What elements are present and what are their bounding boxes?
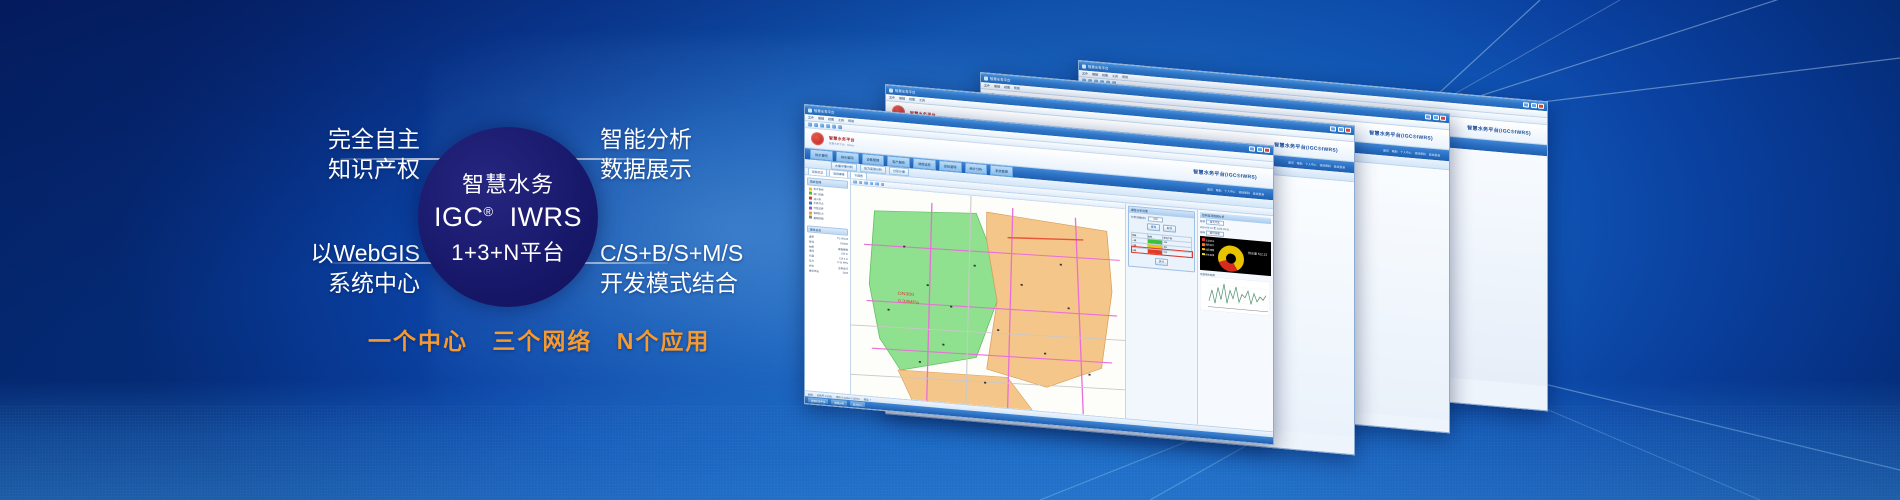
window-1-controls[interactable] xyxy=(1249,146,1270,153)
zoom-in-icon[interactable] xyxy=(859,181,863,185)
nav-right-4[interactable]: 退出登录 xyxy=(1253,191,1264,196)
banner-stage: 完全自主 知识产权 智能分析 数据展示 以WebGIS 系统中心 C/S+B/S… xyxy=(0,0,1900,500)
hub-product: IWRS xyxy=(510,202,583,232)
nav-right-0[interactable]: 首页 xyxy=(1288,160,1294,164)
nav-right-4[interactable]: 退出登录 xyxy=(1334,164,1345,169)
prop-val-7: 2015 xyxy=(842,271,848,274)
tagline-part-2: 三个网络 xyxy=(492,328,592,354)
hub-line-2: IGC® IWRS xyxy=(434,202,582,233)
tagline-part-3: N个应用 xyxy=(617,328,711,354)
window-1-title: 智慧水务平台 xyxy=(814,108,834,115)
feature-top-left: 完全自主 知识产权 xyxy=(300,124,420,184)
taskbar-item-2[interactable]: 监测中心 xyxy=(850,401,866,408)
hub-circle: 智慧水务 IGC® IWRS 1+3+N平台 xyxy=(418,127,598,307)
nav-right-1[interactable]: 帮助 xyxy=(1216,188,1222,192)
forward-icon[interactable] xyxy=(814,123,818,127)
status-layers: 图层: 7 xyxy=(864,397,871,402)
analysis-pane[interactable]: 爆管分析设置 分析范围(米) 500 查询 取消 xyxy=(1125,203,1197,424)
nav-right-2[interactable]: 个人中心 xyxy=(1400,149,1411,154)
prop-val-1: DN300 xyxy=(840,242,848,246)
burst-analysis-dialog[interactable]: 爆管分析设置 分析范围(米) 500 查询 取消 xyxy=(1128,206,1195,273)
swatch-red xyxy=(1147,248,1163,254)
nav-item-6[interactable]: 统计分析 xyxy=(965,163,988,175)
nav-item-5[interactable]: 巡检管理 xyxy=(939,160,962,172)
screenshot-stack: 就绪 流量趋势 🔍 瞬时流量 2024年3月 逐日数据 xyxy=(790,0,1410,420)
prop-key-2: 材质 xyxy=(809,244,814,248)
window-3-controls[interactable] xyxy=(1425,114,1446,121)
feature-top-right: 智能分析 数据展示 xyxy=(600,124,692,184)
refresh-icon[interactable] xyxy=(820,123,824,127)
prop-key-1: 管径 xyxy=(809,239,814,243)
nav-right-1[interactable]: 帮助 xyxy=(1392,149,1398,153)
menu-item-file[interactable]: 文件 xyxy=(984,83,990,88)
menu-item-file[interactable]: 文件 xyxy=(1082,71,1088,76)
window-3-title: 智慧水务平台 xyxy=(990,76,1010,83)
back-icon[interactable] xyxy=(808,122,812,126)
tagline-part-1: 一个中心 xyxy=(368,328,468,354)
menu-item-help[interactable]: 帮助 xyxy=(1122,75,1128,80)
prop-val-5: 0.32 MPa xyxy=(837,261,848,265)
app-window-1[interactable]: 智慧水务平台 文件 编辑 视图 工具 帮助 智慧水务平台 智慧水务平台 · iW… xyxy=(804,104,1274,445)
layer-tree-pane[interactable]: 图层管理 供水管线 阀门设施 消火栓 水表节点 分区边界 管网压力 基础底图 属… xyxy=(805,175,851,394)
feature-top-left-line2: 知识产权 xyxy=(300,154,420,184)
severity-table: 等级 色标 影响户数 一级 126 二级 xyxy=(1131,231,1192,257)
search-icon[interactable] xyxy=(832,124,836,128)
feature-bottom-left-line1: 以WebGIS xyxy=(290,238,420,268)
prop-key-5: 压力 xyxy=(809,258,814,262)
print-icon[interactable] xyxy=(838,125,842,129)
menu-item-view[interactable]: 视图 xyxy=(1004,85,1010,90)
feature-top-left-line1: 完全自主 xyxy=(300,124,420,154)
company-logo-icon xyxy=(811,132,824,146)
map-pane[interactable]: DN300 0.32MPa xyxy=(851,179,1125,418)
menu-item-view[interactable]: 视图 xyxy=(1102,73,1108,78)
prop-val-0: PL-00218 xyxy=(837,237,848,241)
app-title-2: 智慧水务平台(IGC®IWRS) xyxy=(1274,141,1338,154)
hero-content: 完全自主 知识产权 智能分析 数据展示 以WebGIS 系统中心 C/S+B/S… xyxy=(0,0,820,500)
prop-key-7: 建设年份 xyxy=(809,268,819,273)
window-icon xyxy=(889,88,893,92)
measure-icon[interactable] xyxy=(875,182,879,186)
window-icon xyxy=(984,76,988,80)
prop-val-2: 球墨铸铁 xyxy=(838,247,848,252)
feature-top-right-line2: 数据展示 xyxy=(600,154,692,184)
window-2-controls[interactable] xyxy=(1330,126,1351,133)
prop-val-3: 1.80 m xyxy=(840,252,848,256)
nav-right-2[interactable]: 个人中心 xyxy=(1305,161,1316,166)
select-icon[interactable] xyxy=(870,182,874,186)
dialog-field-label: 分析范围(米) xyxy=(1131,215,1146,219)
prop-key-3: 埋深 xyxy=(809,249,814,253)
td-level-2: 三级 xyxy=(1132,247,1148,253)
app-title-1: 智慧水务平台(IGC®IWRS) xyxy=(1193,168,1257,181)
query-button[interactable]: 查询 xyxy=(1147,223,1160,232)
menu-item-view[interactable]: 视图 xyxy=(828,117,834,122)
feature-bottom-right-line2: 开发模式结合 xyxy=(600,268,743,298)
nav-right-1[interactable]: 帮助 xyxy=(1297,161,1303,165)
execute-button[interactable]: 执行 xyxy=(1155,258,1168,267)
hub-line-1: 智慧水务 xyxy=(462,167,554,199)
tagline: 一个中心 三个网络 N个应用 xyxy=(368,322,710,356)
prop-key-4: 长度 xyxy=(809,254,814,258)
monitor-panel[interactable]: 管网监测数据分析 区域 城北片区 2024-03-01 至 2024-03-31… xyxy=(1197,210,1273,432)
feature-bottom-left-line2: 系统中心 xyxy=(290,268,420,298)
cancel-button[interactable]: 取消 xyxy=(1163,224,1176,233)
window-1-body: 图层管理 供水管线 阀门设施 消火栓 水表节点 分区边界 管网压力 基础底图 属… xyxy=(805,175,1273,431)
menu-item-view[interactable]: 视图 xyxy=(909,97,915,102)
app-title-4: 智慧水务平台(IGC®IWRS) xyxy=(1467,124,1531,137)
menu-item-edit[interactable]: 编辑 xyxy=(818,116,824,121)
app-title-3: 智慧水务平台(IGC®IWRS) xyxy=(1369,129,1433,142)
menu-item-help[interactable]: 帮助 xyxy=(848,119,854,124)
hub-brand: IGC xyxy=(434,202,484,232)
menu-item-file[interactable]: 文件 xyxy=(889,95,895,100)
identify-icon[interactable] xyxy=(881,182,885,186)
taskbar-item-1[interactable]: 管网分析 xyxy=(831,399,847,406)
taskbar-item-0[interactable]: 智慧水务平台 xyxy=(808,397,828,404)
home-icon[interactable] xyxy=(826,124,830,128)
window-icon xyxy=(808,108,812,112)
monitor-field-1-label: 区域 xyxy=(1200,220,1205,223)
map-canvas[interactable]: DN300 0.32MPa xyxy=(851,185,1125,418)
donut-chart-panel: 正常供水 超压运行 低压预警 停水检修 供水量 512.23 xyxy=(1200,235,1271,275)
hub-line-3: 1+3+N平台 xyxy=(451,235,565,267)
status-ready: 就绪 xyxy=(808,392,813,396)
nav-right-3[interactable]: 修改密码 xyxy=(1239,190,1250,195)
monitor-field-3-label: 指标 xyxy=(1200,231,1205,234)
feature-bottom-right: C/S+B/S+M/S 开发模式结合 xyxy=(600,238,743,298)
window-4-title: 智慧水务平台 xyxy=(1088,64,1108,71)
prop-val-4: 126.4 m xyxy=(839,257,848,261)
menu-item-edit[interactable]: 编辑 xyxy=(994,84,1000,89)
window-4-controls[interactable] xyxy=(1523,102,1544,109)
nav-right-0[interactable]: 首页 xyxy=(1207,187,1213,191)
window-icon xyxy=(1082,64,1086,68)
menu-item-edit[interactable]: 编辑 xyxy=(1092,72,1098,77)
pan-icon[interactable] xyxy=(853,180,857,184)
nav-item-7[interactable]: 系统管理 xyxy=(990,165,1013,177)
menu-item-tools[interactable]: 工具 xyxy=(838,118,844,123)
menu-item-file[interactable]: 文件 xyxy=(808,115,814,120)
menu-item-help[interactable]: 帮助 xyxy=(1014,86,1020,91)
feature-bottom-left: 以WebGIS 系统中心 xyxy=(290,238,420,298)
window-2-title: 智慧水务平台 xyxy=(895,88,915,95)
menu-item-tools[interactable]: 工具 xyxy=(919,98,925,103)
feature-top-right-line1: 智能分析 xyxy=(600,124,692,154)
prop-key-6: 状态 xyxy=(809,263,814,267)
prop-val-6: 正常运行 xyxy=(838,266,848,271)
dialog-body[interactable]: 分析范围(米) 500 查询 取消 等级 色标 xyxy=(1129,212,1194,271)
nav-item-4[interactable]: 调度监控 xyxy=(913,158,936,170)
legend-label-3: 停水检修 xyxy=(1206,252,1215,257)
menu-item-edit[interactable]: 编辑 xyxy=(899,96,905,101)
zoom-out-icon[interactable] xyxy=(864,181,868,185)
nav-right-3[interactable]: 修改密码 xyxy=(1415,151,1426,156)
mini-line-chart xyxy=(1200,275,1270,315)
nav-item-0[interactable]: 供水管网 xyxy=(810,149,833,161)
nav-right-4[interactable]: 退出登录 xyxy=(1429,152,1440,157)
nav-right-3[interactable]: 修改密码 xyxy=(1320,163,1331,168)
prop-key-0: 编号 xyxy=(809,234,814,238)
nav-right-0[interactable]: 首页 xyxy=(1383,148,1389,152)
menu-item-tools[interactable]: 工具 xyxy=(1112,74,1118,79)
layer-label-6[interactable]: 基础底图 xyxy=(814,216,824,221)
registered-icon: ® xyxy=(483,204,493,219)
nav-right-2[interactable]: 个人中心 xyxy=(1224,188,1235,193)
feature-bottom-right-line1: C/S+B/S+M/S xyxy=(600,238,743,268)
